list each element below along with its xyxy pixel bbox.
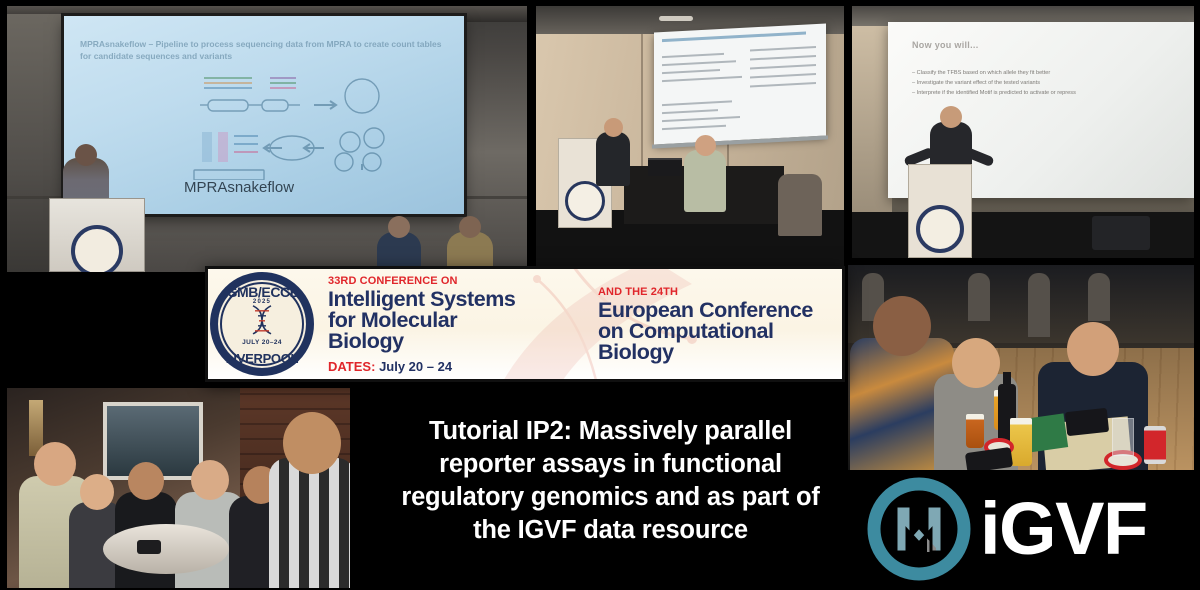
- phone: [137, 540, 161, 554]
- chair: [778, 174, 822, 236]
- tutorial-title-line4: the IGVF data resource: [358, 514, 863, 547]
- banner-title-left-line1: Intelligent Systems: [328, 289, 590, 310]
- banner-title-right-line2: on Computational: [598, 321, 842, 342]
- conference-banner: ISMB/ECCB 2025 JULY 20–24 LIVERPOOL 33rd…: [205, 266, 845, 382]
- podium-seal-icon: [916, 205, 964, 253]
- projection-screen: MPRAsnakeflow – Pipeline to process sequ…: [64, 16, 464, 214]
- podium: [908, 164, 972, 258]
- banner-title-right: European Conference on Computational Bio…: [598, 300, 842, 363]
- slide-bullet: Investigate the variant effect of the te…: [912, 78, 1174, 88]
- slide-title: MPRAsnakeflow – Pipeline to process sequ…: [80, 38, 446, 62]
- banner-kicker-right: AND THE 24th: [598, 286, 842, 298]
- collage-canvas: MPRAsnakeflow – Pipeline to process sequ…: [0, 0, 1200, 590]
- banner-title-left: Intelligent Systems for Molecular Biolog…: [328, 289, 590, 352]
- igvf-wordmark: iGVF: [980, 492, 1147, 566]
- igvf-logo: iGVF: [866, 476, 1147, 582]
- tutorial-title: Tutorial IP2: Massively parallel reporte…: [358, 415, 863, 547]
- wall-panel: [852, 26, 892, 216]
- wallet: [1065, 408, 1109, 436]
- banner-column-eccb: AND THE 24th European Conference on Comp…: [598, 286, 842, 363]
- tutorial-title-line2: reporter assays in functional: [358, 448, 863, 481]
- banner-dates: DATES: July 20 – 24: [328, 359, 590, 374]
- soda-can: [1144, 426, 1166, 464]
- banner-title-left-line2: for Molecular: [328, 310, 590, 331]
- photo-talk-room-mprasnakeflow: MPRAsnakeflow – Pipeline to process sequ…: [7, 6, 527, 272]
- photo-two-presenters-stage: [536, 6, 844, 272]
- tutorial-title-line1: Tutorial IP2: Massively parallel: [358, 415, 863, 448]
- banner-dates-label: DATES:: [328, 359, 375, 374]
- seal-top-text: ISMB/ECCB: [210, 284, 314, 300]
- podium-seal-icon: [71, 225, 123, 272]
- banner-title-right-line1: European Conference: [598, 300, 842, 321]
- person-speaker: [596, 132, 630, 186]
- slide-bullet: Classify the TFBS based on which allele …: [912, 68, 1174, 78]
- banner-kicker-left: 33rd CONFERENCE ON: [328, 275, 590, 287]
- slide-bullet: Interprete if the identified Motif is pr…: [912, 88, 1174, 98]
- slide-bullet-list: Classify the TFBS based on which allele …: [912, 68, 1174, 98]
- water-glass: [1112, 418, 1134, 456]
- seal-dates: JULY 20–24: [210, 339, 314, 346]
- slide-footer-label: MPRAsnakeflow: [184, 179, 294, 196]
- projection-screen: [654, 23, 826, 144]
- person: [269, 458, 350, 588]
- beer-glass: [1010, 418, 1032, 466]
- banner-title-right-line3: Biology: [598, 342, 842, 363]
- photo-group-selfie-pub: [7, 388, 350, 588]
- person-presenter: [684, 150, 726, 212]
- beer-glass: [966, 414, 984, 448]
- laptop: [648, 158, 682, 176]
- photo-speaker-now-you-will: Now you will... Classify the TFBS based …: [852, 6, 1194, 258]
- slide-title: Now you will...: [912, 40, 979, 50]
- mpra-pipeline-diagram: [174, 70, 414, 180]
- podium-seal-icon: [565, 181, 605, 221]
- round-table: [103, 524, 229, 574]
- ismb-eccb-seal: ISMB/ECCB 2025 JULY 20–24 LIVERPOOL: [210, 272, 314, 376]
- podium: [49, 198, 145, 272]
- banner-title-left-line3: Biology: [328, 331, 590, 352]
- photo-attendees-at-table: [848, 265, 1194, 470]
- monitor: [1092, 216, 1150, 250]
- banner-column-ismb: 33rd CONFERENCE ON Intelligent Systems f…: [328, 275, 590, 374]
- seal-city: LIVERPOOL: [210, 351, 314, 366]
- igvf-monument-icon: [866, 476, 972, 582]
- banner-dates-value: July 20 – 24: [379, 359, 452, 374]
- tutorial-title-line3: regulatory genomics and as part of: [358, 481, 863, 514]
